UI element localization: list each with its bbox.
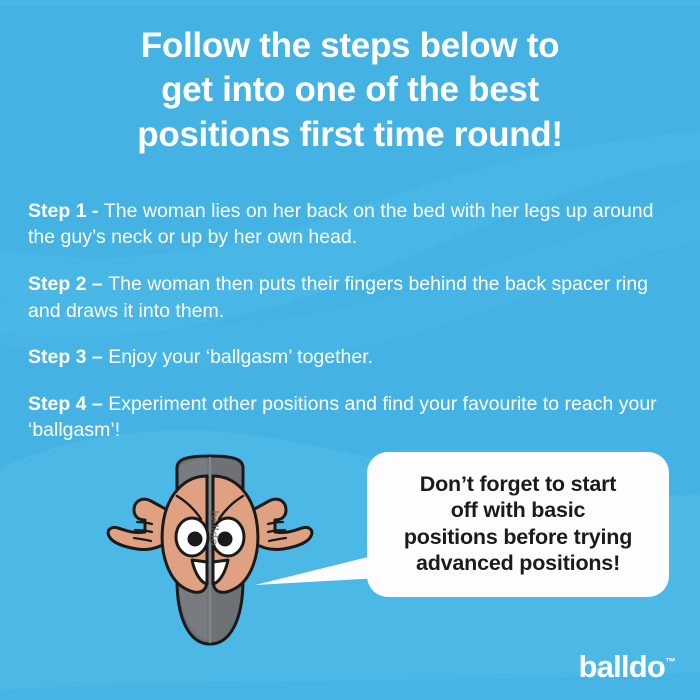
step-label-1: Step 1 -	[28, 200, 104, 222]
step-item-4: Step 4 – Experiment other positions and …	[28, 391, 668, 445]
step-item-3: Step 3 – Enjoy your ‘ballgasm’ together.	[28, 344, 668, 371]
bubble-line-1: Don’t forget to start	[404, 471, 632, 497]
step-label-4: Step 4 –	[28, 393, 108, 415]
bubble-line-2: off with basic	[404, 497, 632, 523]
steps-list: Step 1 - The woman lies on her back on t…	[28, 178, 668, 444]
mascot-device-brand-text: balldo	[207, 510, 221, 545]
speech-bubble-text: Don’t forget to start off with basic pos…	[404, 471, 632, 576]
mascot-left-eye	[176, 518, 208, 556]
poster-canvas: Follow the steps below to get into one o…	[0, 0, 700, 700]
step-text-4: Experiment other positions and find your…	[28, 393, 657, 442]
step-item-1: Step 1 - The woman lies on her back on t…	[28, 198, 668, 252]
step-text-1: The woman lies on her back on the bed wi…	[28, 200, 653, 249]
page-title: Follow the steps below to get into one o…	[50, 24, 650, 157]
step-label-2: Step 2 –	[28, 273, 108, 295]
step-text-3: Enjoy your ‘ballgasm’ together.	[108, 346, 373, 368]
speech-bubble-tail	[255, 548, 380, 592]
headline-line-2: get into one of the best	[50, 68, 650, 112]
step-item-2: Step 2 – The woman then puts their finge…	[28, 271, 668, 325]
headline-line-1: Follow the steps below to	[50, 24, 650, 68]
speech-bubble: Don’t forget to start off with basic pos…	[367, 452, 669, 597]
logo-trademark-symbol: ™	[665, 657, 676, 669]
bubble-line-3: positions before trying	[404, 524, 632, 550]
brand-logo: balldo™	[579, 651, 676, 682]
step-label-3: Step 3 –	[28, 346, 108, 368]
logo-wordmark: balldo	[579, 649, 665, 684]
step-text-2: The woman then puts their fingers behind…	[28, 273, 648, 322]
bubble-line-4: advanced positions!	[404, 550, 632, 576]
headline-line-3: positions first time round!	[50, 113, 650, 157]
